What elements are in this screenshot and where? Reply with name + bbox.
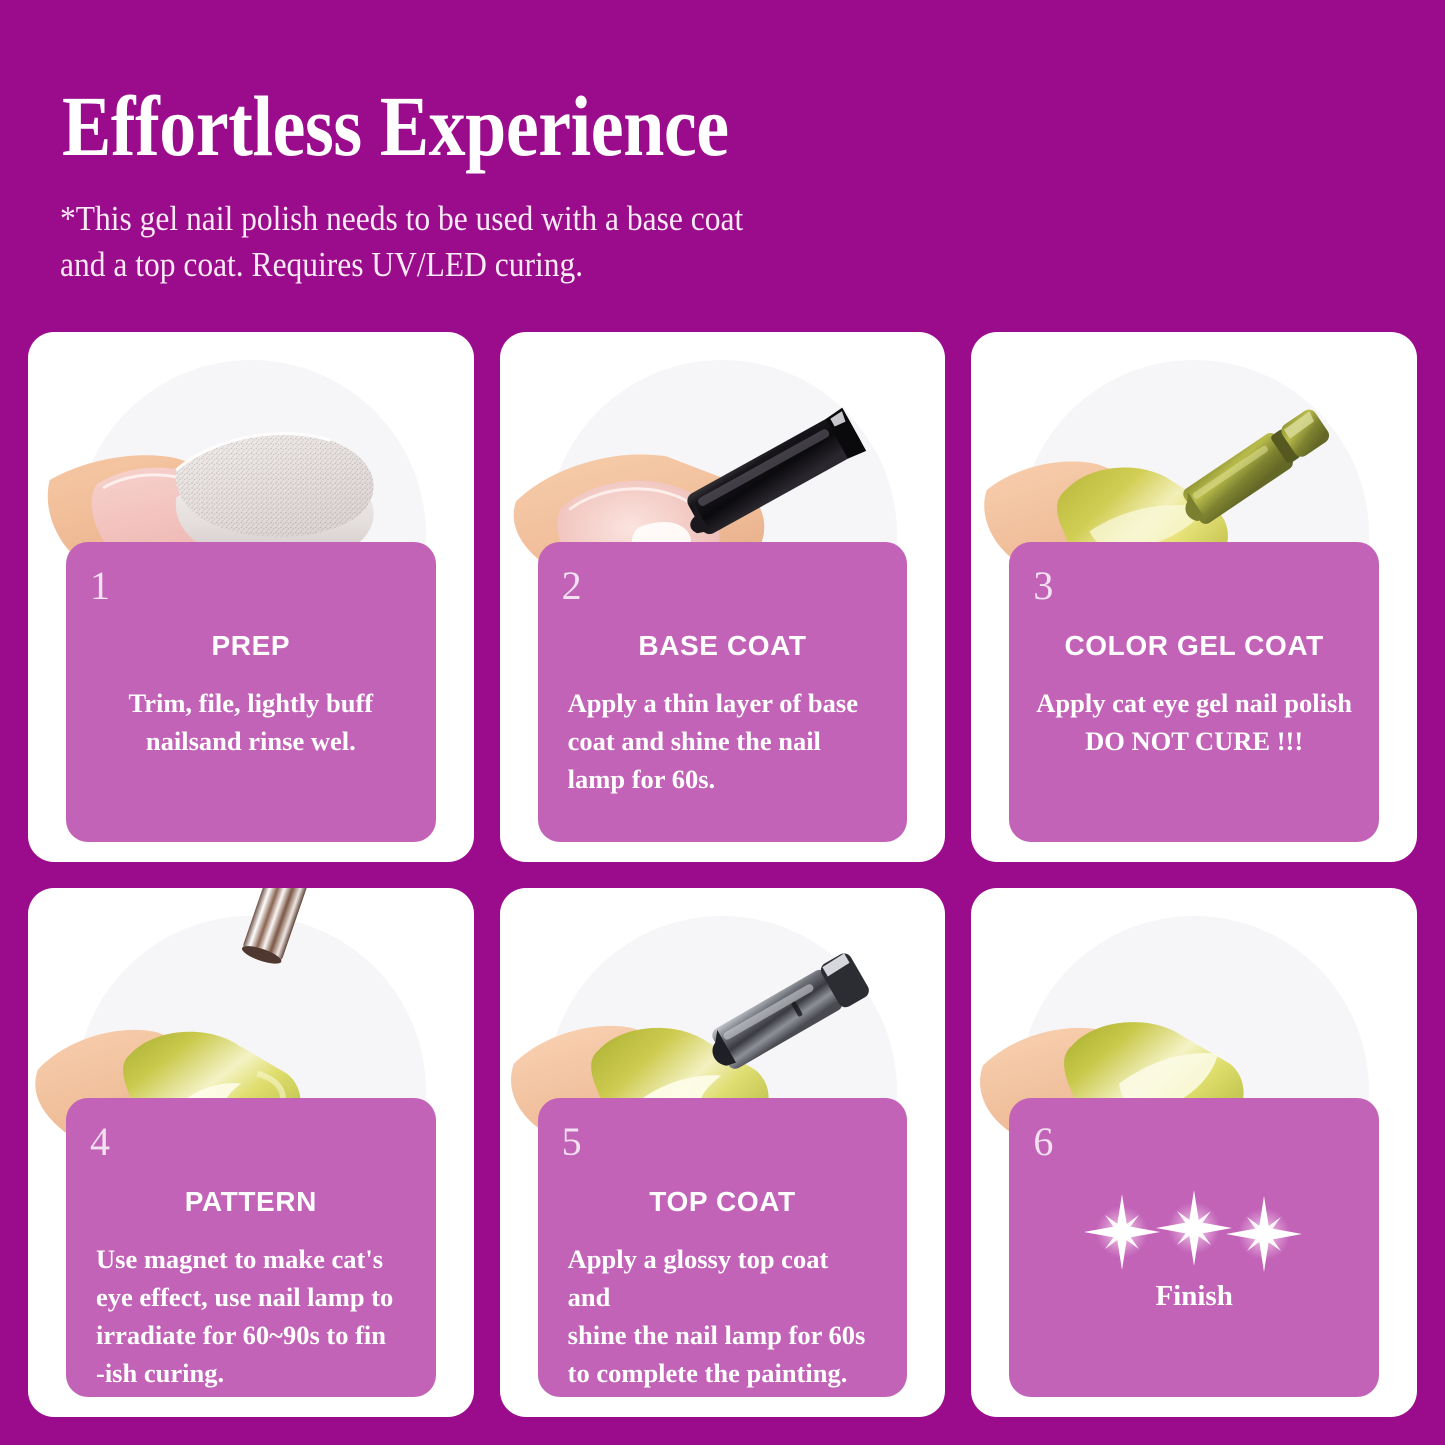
step-title: TOP COAT xyxy=(564,1186,882,1218)
step-number: 2 xyxy=(562,566,582,606)
step-panel: 1 PREP Trim, file, lightly buff nailsand… xyxy=(66,542,436,842)
step-title: PREP xyxy=(92,630,410,662)
sparkle-group xyxy=(1035,1186,1353,1274)
page-title: Effortless Experience xyxy=(62,83,729,169)
step-number: 4 xyxy=(90,1122,110,1162)
step-body: Finish xyxy=(1035,1280,1353,1313)
step-card-6[interactable]: 6 xyxy=(971,888,1417,1418)
step-body: Use magnet to make cat's eye effect, use… xyxy=(92,1240,410,1393)
step-panel: 2 BASE COAT Apply a thin layer of base c… xyxy=(538,542,908,842)
step-panel: 3 COLOR GEL COAT Apply cat eye gel nail … xyxy=(1009,542,1379,842)
step-card-1[interactable]: 1 PREP Trim, file, lightly buff nailsand… xyxy=(28,332,474,862)
step-card-5[interactable]: 5 TOP COAT Apply a glossy top coat and s… xyxy=(500,888,946,1418)
step-body: Apply a glossy top coat and shine the na… xyxy=(564,1240,882,1393)
step-card-3[interactable]: 3 COLOR GEL COAT Apply cat eye gel nail … xyxy=(971,332,1417,862)
step-title: COLOR GEL COAT xyxy=(1035,630,1353,662)
step-title: PATTERN xyxy=(92,1186,410,1218)
page-subtitle: *This gel nail polish needs to be used w… xyxy=(60,196,743,287)
step-title: BASE COAT xyxy=(564,630,882,662)
step-panel: 4 PATTERN Use magnet to make cat's eye e… xyxy=(66,1098,436,1398)
step-number: 5 xyxy=(562,1122,582,1162)
steps-grid: 1 PREP Trim, file, lightly buff nailsand… xyxy=(28,332,1417,1417)
step-panel: 6 xyxy=(1009,1098,1379,1398)
step-number: 3 xyxy=(1033,566,1053,606)
step-number: 1 xyxy=(90,566,110,606)
step-body: Apply a thin layer of base coat and shin… xyxy=(564,684,882,798)
step-body: Apply cat eye gel nail polish DO NOT CUR… xyxy=(1035,684,1353,760)
step-number: 6 xyxy=(1033,1122,1053,1162)
step-body: Trim, file, lightly buff nailsand rinse … xyxy=(92,684,410,760)
step-card-2[interactable]: 2 BASE COAT Apply a thin layer of base c… xyxy=(500,332,946,862)
step-card-4[interactable]: 4 PATTERN Use magnet to make cat's eye e… xyxy=(28,888,474,1418)
step-panel: 5 TOP COAT Apply a glossy top coat and s… xyxy=(538,1098,908,1398)
